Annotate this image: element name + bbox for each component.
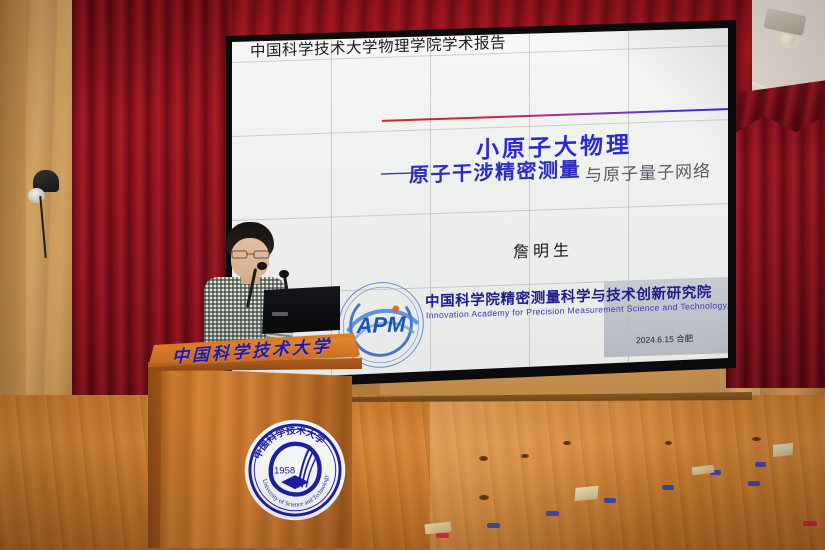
slide-subtitle-emphasis: 原子干涉精密测量 <box>409 153 581 188</box>
floor-marker-red <box>803 521 817 526</box>
floor-outlet-icon <box>521 454 529 458</box>
laptop-logo <box>272 312 288 316</box>
floor-marker-blue <box>662 485 674 490</box>
floor-outlet-icon <box>752 437 761 441</box>
slide-date-location: 2024.6.15 合肥 <box>636 332 693 346</box>
wall-light-bulb-icon <box>28 188 45 203</box>
stage-curtain-right <box>726 88 825 388</box>
floor-outlet-icon <box>563 441 571 445</box>
ustc-seal-year: 1958 <box>274 465 295 476</box>
microphone-head-icon <box>257 262 267 270</box>
panel-seam <box>430 26 431 380</box>
slide-speaker-name: 詹明生 <box>513 236 573 262</box>
floor-marker-blue <box>487 523 500 528</box>
downlight-icon <box>778 33 795 45</box>
glasses-icon <box>231 250 270 259</box>
floor-marker-red <box>436 533 449 538</box>
lecture-hall-photo: 中国科学技术大学物理学院学术报告 小原子大物理 —— 原子干涉精密测量 与原子量… <box>0 0 825 550</box>
floor-tent-card <box>574 486 598 501</box>
panel-seam <box>232 203 728 221</box>
floor-marker-blue <box>748 481 760 486</box>
floor-marker-blue <box>604 498 616 503</box>
microphone-head-icon <box>279 270 289 278</box>
floor-outlet-icon <box>479 495 489 500</box>
floor-marker-blue <box>755 462 766 467</box>
slide-subtitle-rest: 与原子量子网络 <box>585 157 711 186</box>
floor-tent-card <box>773 443 793 457</box>
floor-outlet-icon <box>665 441 672 445</box>
laptop-icon <box>262 286 340 334</box>
panel-seam <box>529 26 530 380</box>
svg-text:APM: APM <box>355 311 406 338</box>
ustc-seal-icon: 1958 中国科学技术大学 University of Science and … <box>243 418 347 522</box>
floor-outlet-icon <box>479 456 488 461</box>
floor-marker-blue <box>546 511 559 516</box>
